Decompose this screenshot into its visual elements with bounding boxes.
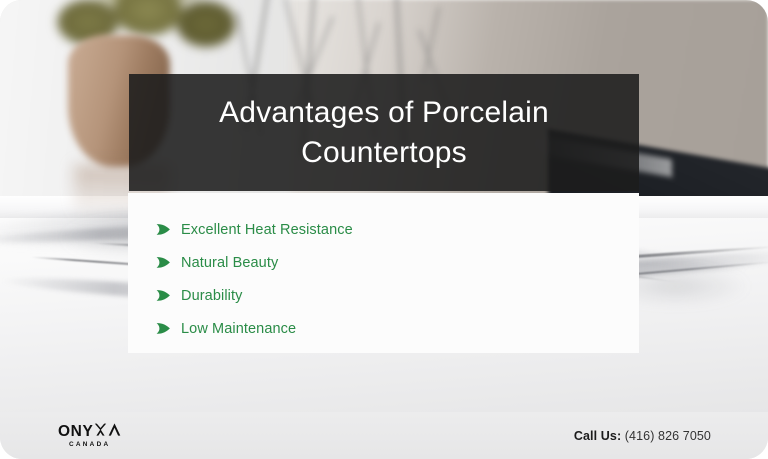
list-item-label: Low Maintenance — [181, 321, 296, 337]
logo-subtitle: CANADA — [69, 442, 111, 448]
phone-number[interactable]: (416) 826 7050 — [625, 429, 711, 443]
logo-x-icon — [94, 423, 107, 436]
arrow-bullet-icon — [156, 223, 171, 236]
brand-logo[interactable]: ONY CANADA — [58, 423, 121, 449]
page-title: Advantages of Porcelain Countertops — [129, 93, 639, 173]
logo-text-ony: ONY — [58, 424, 93, 440]
call-us-label: Call Us: — [574, 429, 621, 443]
promo-card: Advantages of Porcelain Countertops Exce… — [0, 0, 768, 459]
list-item: Natural Beauty — [156, 246, 639, 279]
list-item: Low Maintenance — [156, 312, 639, 345]
list-item-label: Excellent Heat Resistance — [181, 222, 353, 238]
arrow-bullet-icon — [156, 322, 171, 335]
list-item: Durability — [156, 279, 639, 312]
logo-a-chevron-icon — [108, 423, 121, 436]
contact-info[interactable]: Call Us: (416) 826 7050 — [574, 429, 711, 443]
list-item-label: Natural Beauty — [181, 255, 278, 271]
benefits-panel: Excellent Heat Resistance Natural Beauty… — [128, 193, 639, 353]
list-item: Excellent Heat Resistance — [156, 213, 639, 246]
arrow-bullet-icon — [156, 256, 171, 269]
footer-bar: ONY CANADA Call Us: (416) 826 7050 — [0, 412, 768, 459]
list-item-label: Durability — [181, 288, 242, 304]
arrow-bullet-icon — [156, 289, 171, 302]
logo-wordmark: ONY — [58, 423, 121, 440]
title-banner: Advantages of Porcelain Countertops — [129, 74, 639, 191]
